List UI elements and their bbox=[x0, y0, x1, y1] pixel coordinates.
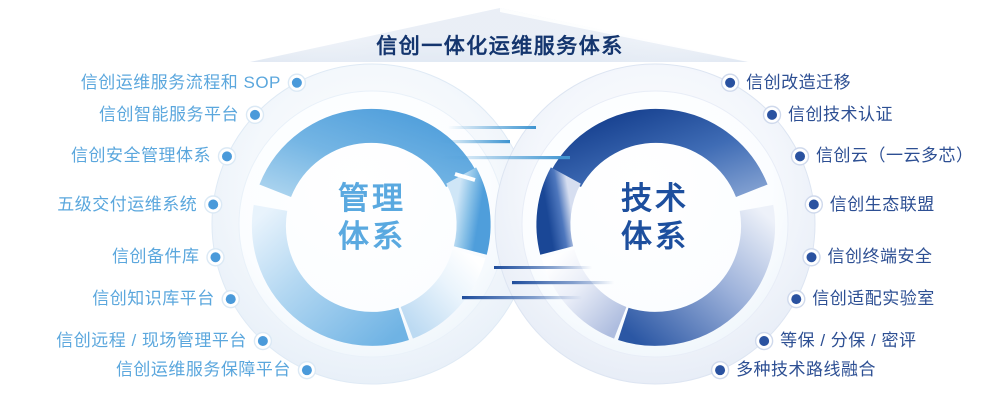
left-center-line1: 管理 bbox=[292, 180, 452, 218]
wheel-node-dot[interactable] bbox=[210, 252, 220, 262]
wheel-node-dot[interactable] bbox=[725, 78, 735, 88]
wheel-label-left-2: 信创远程 / 现场管理平台 bbox=[56, 332, 247, 349]
wheel-node-dot[interactable] bbox=[250, 110, 260, 120]
right-center-line1: 技术 bbox=[575, 180, 735, 218]
wheel-node-dot[interactable] bbox=[767, 110, 777, 120]
wheel-label-left-8: 信创运维服务流程和 SOP bbox=[81, 74, 281, 91]
wheel-node-dot[interactable] bbox=[759, 336, 769, 346]
wheel-node-dot[interactable] bbox=[302, 365, 312, 375]
wheel-node-dot[interactable] bbox=[809, 200, 819, 210]
wheel-label-left-3: 信创知识库平台 bbox=[92, 290, 215, 307]
wheel-label-right-3: 信创适配实验室 bbox=[812, 290, 935, 307]
wheel-label-right-7: 信创技术认证 bbox=[788, 106, 893, 123]
wheel-node-dot[interactable] bbox=[791, 294, 801, 304]
wheel-label-right-1: 多种技术路线融合 bbox=[736, 361, 876, 378]
wheel-label-right-8: 信创改造迁移 bbox=[746, 74, 851, 91]
wheel-node-dot[interactable] bbox=[795, 151, 805, 161]
infographic-canvas: 信创一体化运维服务体系 管理 体系 技术 体系 信创运维服务保障平台信创远程 /… bbox=[0, 0, 1000, 408]
right-center-line2: 体系 bbox=[575, 218, 735, 256]
page-title: 信创一体化运维服务体系 bbox=[0, 30, 1000, 60]
wheel-node-dot[interactable] bbox=[222, 151, 232, 161]
wheel-label-left-1: 信创运维服务保障平台 bbox=[116, 361, 291, 378]
wheel-node-dot[interactable] bbox=[226, 294, 236, 304]
wheel-label-right-2: 等保 / 分保 / 密评 bbox=[780, 332, 916, 349]
wheel-node-dot[interactable] bbox=[292, 78, 302, 88]
wheel-label-right-4: 信创终端安全 bbox=[828, 248, 933, 265]
wheel-node-dot[interactable] bbox=[715, 365, 725, 375]
wheel-node-dot[interactable] bbox=[208, 200, 218, 210]
left-wheel-center-label: 管理 体系 bbox=[292, 180, 452, 256]
wheel-label-left-4: 信创备件库 bbox=[112, 248, 200, 265]
wheel-label-left-6: 信创安全管理体系 bbox=[71, 147, 211, 164]
wheel-label-left-7: 信创智能服务平台 bbox=[99, 106, 239, 123]
wheel-label-right-6: 信创云（一云多芯） bbox=[816, 147, 974, 164]
wheel-label-left-5: 五级交付运维系统 bbox=[57, 196, 197, 213]
wheel-node-dot[interactable] bbox=[258, 336, 268, 346]
right-wheel-center-label: 技术 体系 bbox=[575, 180, 735, 256]
wheel-label-right-5: 信创生态联盟 bbox=[830, 196, 935, 213]
left-center-line2: 体系 bbox=[292, 218, 452, 256]
wheel-node-dot[interactable] bbox=[807, 252, 817, 262]
